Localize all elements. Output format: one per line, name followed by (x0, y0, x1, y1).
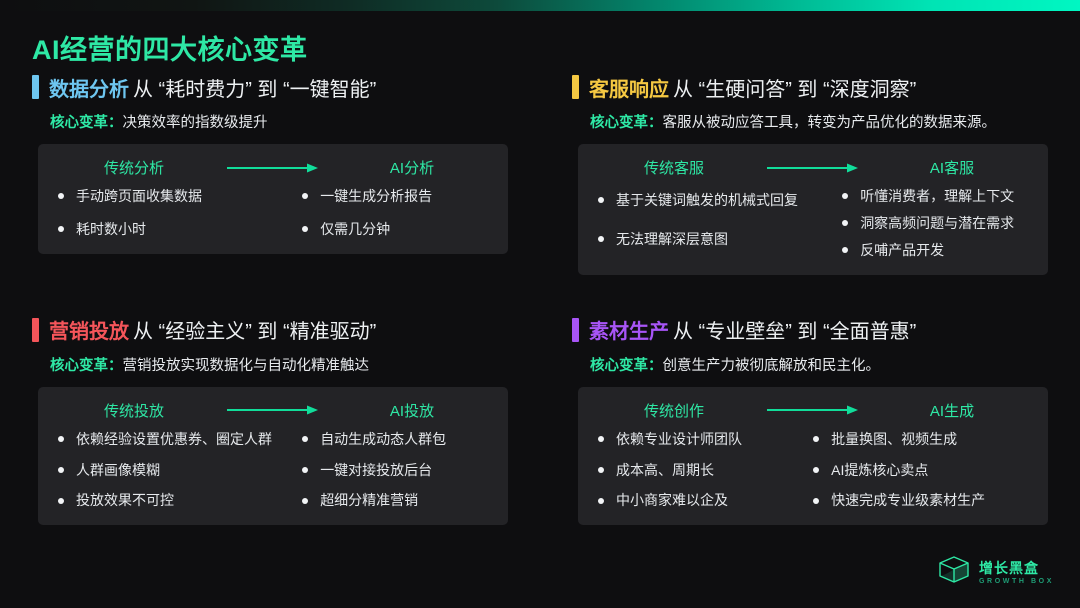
column-traditional: 手动跨页面收集数据 耗时数小时 (54, 187, 298, 239)
core-change-label: 核心变革： (50, 358, 123, 374)
bullet-list-traditional: 依赖专业设计师团队 成本高、周期长 中小商家难以企及 (594, 430, 809, 511)
bullet-list-ai: 一键生成分析报告 仅需几分钟 (298, 187, 492, 239)
top-gradient-bar (0, 0, 1080, 11)
arrow-right-icon (754, 162, 872, 174)
comparison-card-header: 传统分析 AI分析 (54, 157, 492, 178)
comparison-card-body: 依赖经验设置优惠券、圈定人群 人群画像模糊 投放效果不可控 自动生成动态人群包 … (54, 430, 492, 511)
comparison-card: 传统投放 AI投放 依赖经验设置优惠券、圈定人群 人群画像模糊 投放效果不可控 (38, 387, 508, 526)
arrow-right-icon (754, 404, 872, 416)
bullet-list-traditional: 基于关键词触发的机械式回复 无法理解深层意图 (594, 191, 838, 249)
comparison-card-header: 传统客服 AI客服 (594, 157, 1032, 178)
column-heading-ai: AI生成 (872, 400, 1032, 421)
list-item: 基于关键词触发的机械式回复 (594, 191, 838, 210)
list-item: 听懂消费者，理解上下文 (838, 187, 1032, 206)
comparison-card-body: 基于关键词触发的机械式回复 无法理解深层意图 听懂消费者，理解上下文 洞察高频问… (594, 187, 1032, 260)
brand-name-en: GROWTH BOX (979, 578, 1054, 585)
comparison-card-body: 手动跨页面收集数据 耗时数小时 一键生成分析报告 仅需几分钟 (54, 187, 492, 239)
brand-logo: 增长黑盒 GROWTH BOX (937, 555, 1054, 590)
core-change-label: 核心变革： (590, 115, 663, 131)
block-title-rest: 从 “经验主义” 到 “精准驱动” (133, 321, 376, 343)
block-title: 客服响应 (589, 79, 669, 101)
core-change-label: 核心变革： (50, 115, 123, 131)
accent-bar-creative-production (572, 318, 579, 342)
list-item: 自动生成动态人群包 (298, 430, 492, 449)
list-item: 洞察高频问题与潜在需求 (838, 214, 1032, 233)
column-heading-ai: AI投放 (332, 400, 492, 421)
comparison-card: 传统分析 AI分析 手动跨页面收集数据 耗时数小时 (38, 144, 508, 254)
block-title-row: 客服响应从 “生硬问答” 到 “深度洞察” (589, 73, 916, 102)
block-heading: 素材生产从 “专业壁垒” 到 “全面普惠” (572, 315, 1048, 345)
list-item: 反哺产品开发 (838, 241, 1032, 260)
blocks-grid: 数据分析从 “耗时费力” 到 “一键智能” 核心变革：决策效率的指数级提升 传统… (0, 72, 1080, 525)
list-item: AI提炼核心卖点 (809, 461, 1032, 480)
core-change-text: 决策效率的指数级提升 (123, 115, 268, 131)
block-title-row: 数据分析从 “耗时费力” 到 “一键智能” (49, 73, 376, 102)
block-creative-production: 素材生产从 “专业壁垒” 到 “全面普惠” 核心变革：创意生产力被彻底解放和民主… (540, 315, 1080, 526)
comparison-card: 传统客服 AI客服 基于关键词触发的机械式回复 无法理解深层意图 (578, 144, 1048, 275)
bullet-list-ai: 自动生成动态人群包 一键对接投放后台 超细分精准营销 (298, 430, 492, 511)
core-change-text: 创意生产力被彻底解放和民主化。 (663, 358, 881, 374)
core-change-text: 客服从被动应答工具，转变为产品优化的数据来源。 (663, 115, 997, 131)
accent-bar-data-analysis (32, 75, 39, 99)
bullet-list-traditional: 依赖经验设置优惠券、圈定人群 人群画像模糊 投放效果不可控 (54, 430, 298, 511)
block-heading: 客服响应从 “生硬问答” 到 “深度洞察” (572, 72, 1048, 102)
block-title-rest: 从 “专业壁垒” 到 “全面普惠” (673, 321, 916, 343)
block-title-row: 素材生产从 “专业壁垒” 到 “全面普惠” (589, 315, 916, 344)
column-ai: 批量换图、视频生成 AI提炼核心卖点 快速完成专业级素材生产 (809, 430, 1032, 511)
block-title-rest: 从 “耗时费力” 到 “一键智能” (133, 79, 376, 101)
arrow-right-icon (214, 162, 332, 174)
core-change-text: 营销投放实现数据化与自动化精准触达 (123, 358, 370, 374)
column-heading-traditional: 传统分析 (54, 157, 214, 178)
column-traditional: 依赖专业设计师团队 成本高、周期长 中小商家难以企及 (594, 430, 809, 511)
column-heading-ai: AI分析 (332, 157, 492, 178)
blocks-row-1: 数据分析从 “耗时费力” 到 “一键智能” 核心变革：决策效率的指数级提升 传统… (0, 72, 1080, 275)
block-heading: 营销投放从 “经验主义” 到 “精准驱动” (32, 315, 508, 345)
block-title: 素材生产 (589, 321, 669, 343)
growth-box-cube-icon (937, 555, 971, 590)
list-item: 批量换图、视频生成 (809, 430, 1032, 449)
list-item: 无法理解深层意图 (594, 230, 838, 249)
column-heading-ai: AI客服 (872, 157, 1032, 178)
block-data-analysis: 数据分析从 “耗时费力” 到 “一键智能” 核心变革：决策效率的指数级提升 传统… (0, 72, 540, 275)
brand-name-cn: 增长黑盒 (979, 561, 1054, 575)
list-item: 人群画像模糊 (54, 461, 298, 480)
core-change-line: 核心变革：营销投放实现数据化与自动化精准触达 (50, 354, 508, 375)
list-item: 中小商家难以企及 (594, 491, 809, 510)
comparison-card: 传统创作 AI生成 依赖专业设计师团队 成本高、周期长 中小商家难以企及 (578, 387, 1048, 526)
column-heading-traditional: 传统投放 (54, 400, 214, 421)
page-title: AI经营的四大核心变革 (32, 28, 308, 67)
bullet-list-ai: 批量换图、视频生成 AI提炼核心卖点 快速完成专业级素材生产 (809, 430, 1032, 511)
comparison-card-header: 传统创作 AI生成 (594, 400, 1032, 421)
column-heading-traditional: 传统客服 (594, 157, 754, 178)
block-title: 营销投放 (49, 321, 129, 343)
core-change-line: 核心变革：客服从被动应答工具，转变为产品优化的数据来源。 (590, 111, 1048, 132)
bullet-list-ai: 听懂消费者，理解上下文 洞察高频问题与潜在需求 反哺产品开发 (838, 187, 1032, 260)
list-item: 依赖经验设置优惠券、圈定人群 (54, 430, 298, 449)
core-change-label: 核心变革： (590, 358, 663, 374)
list-item: 耗时数小时 (54, 220, 298, 239)
list-item: 手动跨页面收集数据 (54, 187, 298, 206)
column-traditional: 基于关键词触发的机械式回复 无法理解深层意图 (594, 187, 838, 260)
list-item: 投放效果不可控 (54, 491, 298, 510)
list-item: 一键对接投放后台 (298, 461, 492, 480)
block-title-row: 营销投放从 “经验主义” 到 “精准驱动” (49, 315, 376, 344)
list-item: 仅需几分钟 (298, 220, 492, 239)
block-title-rest: 从 “生硬问答” 到 “深度洞察” (673, 79, 916, 101)
comparison-card-header: 传统投放 AI投放 (54, 400, 492, 421)
block-title: 数据分析 (49, 79, 129, 101)
slide-root: AI经营的四大核心变革 数据分析从 “耗时费力” 到 “一键智能” 核心变革：决… (0, 0, 1080, 608)
list-item: 依赖专业设计师团队 (594, 430, 809, 449)
core-change-line: 核心变革：创意生产力被彻底解放和民主化。 (590, 354, 1048, 375)
block-customer-service: 客服响应从 “生硬问答” 到 “深度洞察” 核心变革：客服从被动应答工具，转变为… (540, 72, 1080, 275)
arrow-right-icon (214, 404, 332, 416)
accent-bar-marketing (32, 318, 39, 342)
column-ai: 听懂消费者，理解上下文 洞察高频问题与潜在需求 反哺产品开发 (838, 187, 1032, 260)
bullet-list-traditional: 手动跨页面收集数据 耗时数小时 (54, 187, 298, 239)
list-item: 成本高、周期长 (594, 461, 809, 480)
column-heading-traditional: 传统创作 (594, 400, 754, 421)
column-traditional: 依赖经验设置优惠券、圈定人群 人群画像模糊 投放效果不可控 (54, 430, 298, 511)
accent-bar-customer-service (572, 75, 579, 99)
core-change-line: 核心变革：决策效率的指数级提升 (50, 111, 508, 132)
block-marketing: 营销投放从 “经验主义” 到 “精准驱动” 核心变革：营销投放实现数据化与自动化… (0, 315, 540, 526)
list-item: 超细分精准营销 (298, 491, 492, 510)
list-item: 一键生成分析报告 (298, 187, 492, 206)
column-ai: 一键生成分析报告 仅需几分钟 (298, 187, 492, 239)
list-item: 快速完成专业级素材生产 (809, 491, 1032, 510)
brand-logo-text: 增长黑盒 GROWTH BOX (979, 561, 1054, 585)
block-heading: 数据分析从 “耗时费力” 到 “一键智能” (32, 72, 508, 102)
column-ai: 自动生成动态人群包 一键对接投放后台 超细分精准营销 (298, 430, 492, 511)
comparison-card-body: 依赖专业设计师团队 成本高、周期长 中小商家难以企及 批量换图、视频生成 AI提… (594, 430, 1032, 511)
blocks-row-2: 营销投放从 “经验主义” 到 “精准驱动” 核心变革：营销投放实现数据化与自动化… (0, 315, 1080, 526)
